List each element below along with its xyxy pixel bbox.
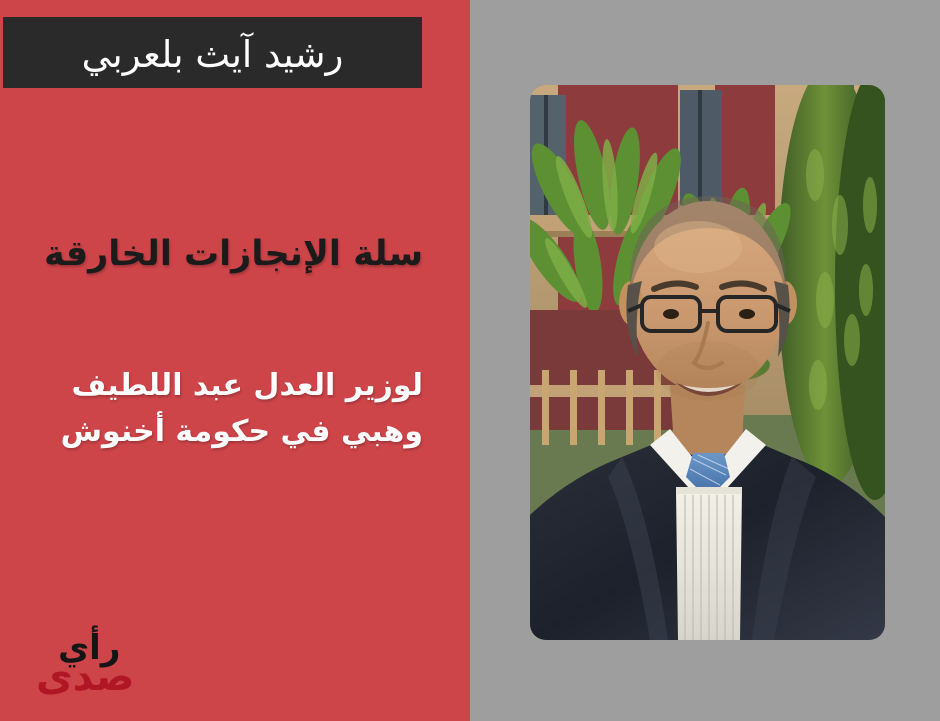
author-name-banner: رشيد آيث بلعربي — [3, 17, 422, 88]
subtitle-line-1: لوزير العدل عبد اللطيف — [43, 363, 423, 409]
subtitle-line-2: وهبي في حكومة أخنوش — [43, 409, 423, 455]
left-red-panel: رشيد آيث بلعربي سلة الإنجازات الخارقة لو… — [0, 0, 470, 721]
brand-logo-bottom-word: صدى — [36, 657, 134, 697]
page-title: سلة الإنجازات الخارقة — [43, 233, 423, 277]
portrait-photo — [530, 85, 885, 640]
author-name-text: رشيد آيث بلعربي — [82, 36, 344, 73]
portrait-photo-image — [530, 85, 885, 640]
subtitle-block: لوزير العدل عبد اللطيف وهبي في حكومة أخن… — [43, 363, 423, 454]
poster-canvas: رشيد آيث بلعربي سلة الإنجازات الخارقة لو… — [0, 0, 940, 721]
brand-logo: رأي صدى — [36, 631, 146, 709]
